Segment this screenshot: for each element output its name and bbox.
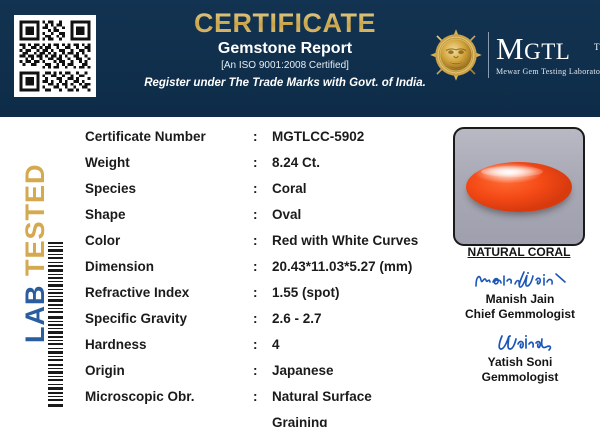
stone-highlight	[481, 166, 543, 177]
field-value: 1.55 (spot)	[272, 285, 440, 300]
field-label: Origin	[85, 363, 253, 378]
logo-tagline: Mewar Gem Testing Laboratory	[496, 67, 600, 77]
field-label: Shape	[85, 207, 253, 222]
field-value: 8.24 Ct.	[272, 155, 440, 170]
field-separator: :	[253, 363, 272, 378]
field-value: Japanese	[272, 363, 440, 378]
field-separator: :	[253, 311, 272, 326]
field-label: Refractive Index	[85, 285, 253, 300]
table-row: Origin : Japanese	[85, 363, 440, 389]
mgtl-logo: MGTL TM Mewar Gem Testing Laboratory	[428, 22, 596, 88]
coral-gemstone-photo	[453, 127, 585, 246]
signature-mark-icon	[450, 331, 590, 355]
certificate-header: CERTIFICATE Gemstone Report [An ISO 9001…	[0, 0, 600, 117]
signature-block-chief-gemmologist: Manish Jain Chief Gemmologist	[450, 268, 590, 322]
field-value: Graining	[272, 415, 440, 427]
field-separator: :	[253, 155, 272, 170]
field-value: 20.43*11.03*5.27 (mm)	[272, 259, 440, 274]
gem-photo-caption: NATURAL CORAL	[453, 245, 585, 259]
trademark-registration-line: Register under The Trade Marks with Govt…	[140, 76, 430, 90]
header-title-block: CERTIFICATE Gemstone Report [An ISO 9001…	[140, 8, 430, 90]
signatory-name: Manish Jain	[450, 292, 590, 307]
field-value: Coral	[272, 181, 440, 196]
table-row: Specific Gravity : 2.6 - 2.7	[85, 311, 440, 337]
tested-word: TESTED	[20, 163, 50, 276]
page-title: CERTIFICATE	[140, 8, 430, 38]
table-row: : Graining	[85, 415, 440, 427]
table-row: Hardness : 4	[85, 337, 440, 363]
table-row: Microscopic Obr. : Natural Surface	[85, 389, 440, 415]
field-label: Species	[85, 181, 253, 196]
field-label: Hardness	[85, 337, 253, 352]
signature-block-gemmologist: Yatish Soni Gemmologist	[450, 331, 590, 385]
table-row: Color : Red with White Curves	[85, 233, 440, 259]
field-label: Microscopic Obr.	[85, 389, 253, 404]
iso-certification-line: [An ISO 9001:2008 Certified]	[140, 59, 430, 73]
field-label: Specific Gravity	[85, 311, 253, 326]
logo-divider	[488, 32, 489, 78]
table-row: Refractive Index : 1.55 (spot)	[85, 285, 440, 311]
field-separator: :	[253, 285, 272, 300]
field-separator: :	[253, 233, 272, 248]
field-value: MGTLCC-5902	[272, 129, 440, 144]
field-label: Certificate Number	[85, 129, 253, 144]
lab-tested-label: LAB TESTED	[20, 168, 51, 343]
signatory-role: Gemmologist	[450, 370, 590, 385]
field-value: Oval	[272, 207, 440, 222]
lab-word: LAB	[20, 285, 50, 344]
barcode-icon	[48, 241, 63, 409]
field-separator: :	[253, 129, 272, 144]
signature-mark-icon	[450, 268, 590, 292]
field-value: Red with White Curves	[272, 233, 440, 248]
brand-letters-gtl: GTL	[524, 39, 570, 64]
brand-name: MGTL TM	[496, 33, 600, 68]
gemstone-report-fields: Certificate Number : MGTLCC-5902 Weight …	[85, 129, 440, 427]
table-row: Certificate Number : MGTLCC-5902	[85, 129, 440, 155]
lab-tested-sidebar: LAB TESTED	[0, 117, 70, 427]
field-separator: :	[253, 207, 272, 222]
field-separator: :	[253, 389, 272, 404]
field-separator: :	[253, 181, 272, 196]
field-label: Dimension	[85, 259, 253, 274]
logo-text-block: MGTL TM Mewar Gem Testing Laboratory	[496, 33, 600, 77]
qr-code-icon	[14, 15, 96, 97]
brand-letter-m: M	[496, 31, 524, 66]
table-row: Species : Coral	[85, 181, 440, 207]
field-value: 4	[272, 337, 440, 352]
signatory-name: Yatish Soni	[450, 355, 590, 370]
table-row: Weight : 8.24 Ct.	[85, 155, 440, 181]
field-value: 2.6 - 2.7	[272, 311, 440, 326]
signatory-role: Chief Gemmologist	[450, 307, 590, 322]
sun-face-emblem-icon	[428, 27, 484, 83]
table-row: Dimension : 20.43*11.03*5.27 (mm)	[85, 259, 440, 285]
table-row: Shape : Oval	[85, 207, 440, 233]
field-separator: :	[253, 337, 272, 352]
gemstone-certificate: CERTIFICATE Gemstone Report [An ISO 9001…	[0, 0, 600, 427]
field-label: Color	[85, 233, 253, 248]
field-separator: :	[253, 259, 272, 274]
field-label: Weight	[85, 155, 253, 170]
field-value: Natural Surface	[272, 389, 440, 404]
certificate-subtitle: Gemstone Report	[140, 39, 430, 58]
trademark-symbol: TM	[594, 31, 600, 63]
